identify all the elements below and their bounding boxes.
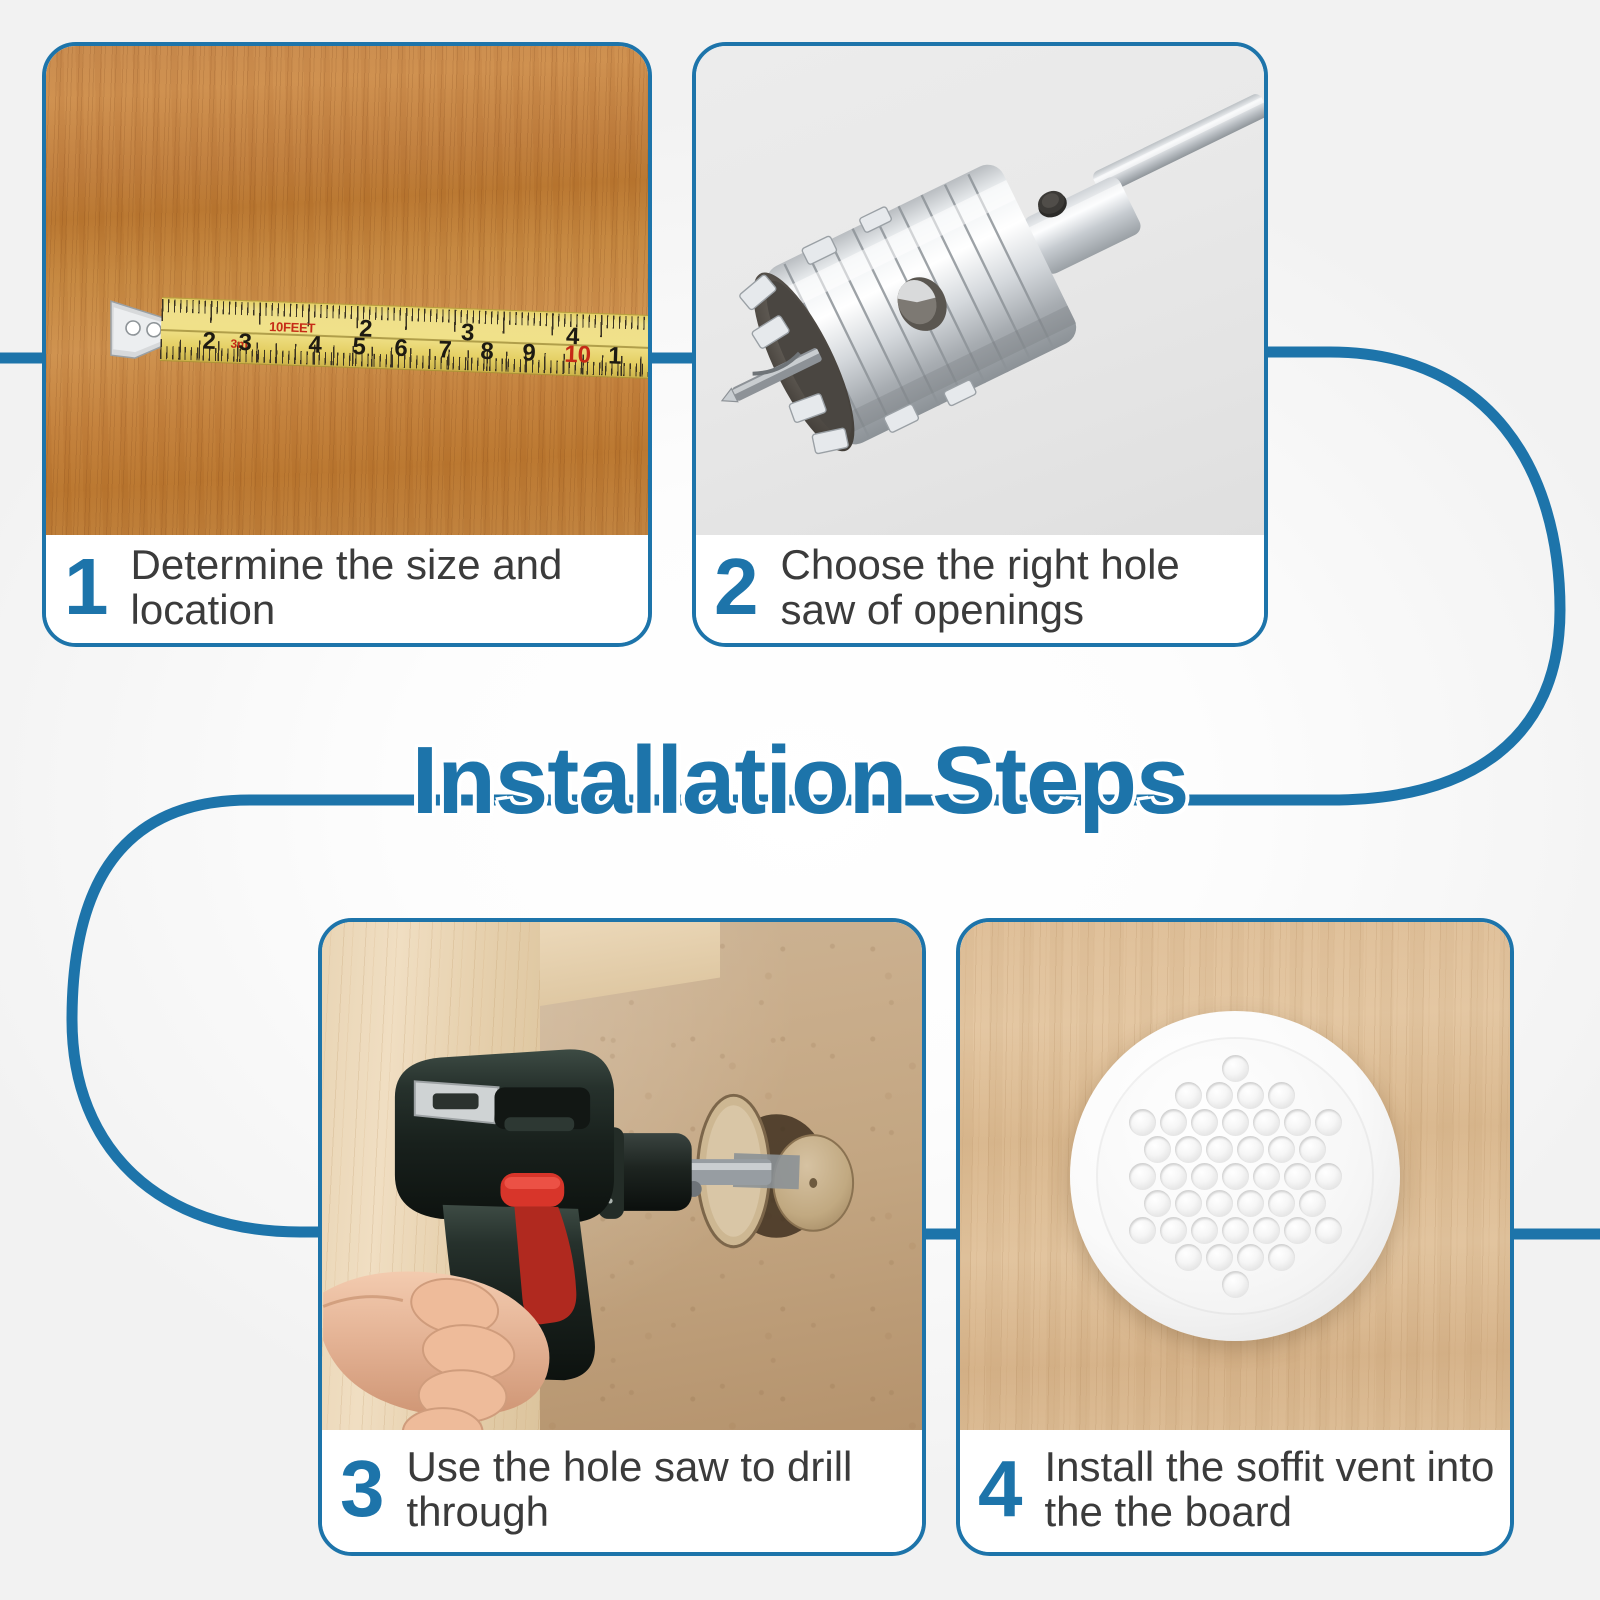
vent-hole	[1191, 1109, 1218, 1136]
tape-cm-2: 2	[202, 330, 216, 354]
vent-hole	[1268, 1190, 1295, 1217]
tape-cm-8: 8	[480, 340, 494, 364]
installation-steps-infographic: Installation Steps 10FE	[0, 0, 1600, 1600]
vent-hole	[1268, 1244, 1295, 1271]
vent-hole	[1237, 1190, 1264, 1217]
vent-hole	[1284, 1217, 1311, 1244]
vent-hole	[1253, 1163, 1280, 1190]
tape-blade: 10FEET 3m 2 3 4 5 2 3 4 5 6 7 8 9 10 1	[160, 297, 648, 380]
vent-hole	[1129, 1109, 1156, 1136]
vent-hole	[1206, 1082, 1233, 1109]
vent-hole	[1222, 1163, 1249, 1190]
vent-hole	[1129, 1217, 1156, 1244]
step-caption-2: Choose the right hole saw of openings	[781, 542, 1251, 633]
step-card-1-caption: 1 Determine the size and location	[46, 535, 648, 643]
tape-cm-9: 9	[522, 341, 536, 365]
step-card-2: 2 Choose the right hole saw of openings	[692, 42, 1268, 647]
vent-hole	[1144, 1190, 1171, 1217]
vent-hole	[1175, 1136, 1202, 1163]
vent-hole	[1222, 1109, 1249, 1136]
step-number-4: 4	[978, 1452, 1023, 1526]
vent-hole	[1160, 1109, 1187, 1136]
connector-left-loop	[72, 800, 330, 1232]
hole-saw-core-bit-illustration	[696, 46, 1264, 535]
vent-hole	[1237, 1244, 1264, 1271]
cordless-drill-illustration	[322, 922, 922, 1430]
vent-hole	[1206, 1136, 1233, 1163]
vent-hole	[1268, 1136, 1295, 1163]
vent-hole	[1191, 1163, 1218, 1190]
step-card-4: 4 Install the soffit vent into the the b…	[956, 918, 1514, 1556]
vent-hole	[1284, 1163, 1311, 1190]
vent-hole	[1253, 1109, 1280, 1136]
vent-hole	[1160, 1163, 1187, 1190]
tape-cm-5: 5	[352, 335, 366, 359]
step-card-3-caption: 3 Use the hole saw to drill through	[322, 1430, 922, 1552]
vent-hole	[1175, 1244, 1202, 1271]
drilling-with-hole-saw-photo	[322, 922, 922, 1430]
vent-hole	[1175, 1082, 1202, 1109]
tape-inch-3: 3	[461, 321, 475, 345]
vent-hole	[1284, 1109, 1311, 1136]
vent-hole	[1299, 1136, 1326, 1163]
step-card-2-caption: 2 Choose the right hole saw of openings	[696, 535, 1264, 643]
vent-hole	[1315, 1217, 1342, 1244]
tape-cm-7: 7	[438, 338, 452, 362]
vent-hole	[1222, 1217, 1249, 1244]
vent-hole	[1175, 1190, 1202, 1217]
vent-hole	[1253, 1217, 1280, 1244]
vent-hole	[1129, 1163, 1156, 1190]
vent-hole-grid	[1110, 1051, 1360, 1301]
hole-saw-barrel	[696, 153, 1085, 495]
hole-saw-core-bit-photo	[696, 46, 1264, 535]
step-caption-4: Install the soffit vent into the the boa…	[1045, 1444, 1497, 1535]
connector-right-loop	[1266, 352, 1560, 800]
vent-hole	[1160, 1217, 1187, 1244]
step-caption-3: Use the hole saw to drill through	[407, 1444, 909, 1535]
vent-hole	[1144, 1136, 1171, 1163]
step-caption-1: Determine the size and location	[131, 542, 635, 633]
step-number-2: 2	[714, 550, 759, 624]
soffit-vent	[1070, 1011, 1400, 1341]
tape-cm-10: 10	[564, 343, 592, 368]
step-card-1: 10FEET 3m 2 3 4 5 2 3 4 5 6 7 8 9 10 1	[42, 42, 652, 647]
vent-hole	[1191, 1217, 1218, 1244]
step-number-1: 1	[64, 550, 109, 624]
vent-hole	[1206, 1244, 1233, 1271]
tape-cm-3: 3	[238, 331, 252, 355]
vent-hole	[1222, 1271, 1249, 1298]
tape-measure-on-wood-board-photo: 10FEET 3m 2 3 4 5 2 3 4 5 6 7 8 9 10 1	[46, 46, 648, 535]
vent-hole	[1222, 1055, 1249, 1082]
vent-hole	[1299, 1190, 1326, 1217]
vent-hole	[1237, 1082, 1264, 1109]
tape-cm-4: 4	[308, 333, 322, 357]
vent-hole	[1237, 1136, 1264, 1163]
tape-cm-11: 1	[608, 344, 622, 368]
drill-body	[395, 1049, 614, 1222]
step-number-3: 3	[340, 1452, 385, 1526]
vent-hole	[1315, 1163, 1342, 1190]
wood-background	[46, 46, 648, 535]
tape-cm-6: 6	[394, 337, 408, 361]
vent-hole	[1315, 1109, 1342, 1136]
step-card-3: 3 Use the hole saw to drill through	[318, 918, 926, 1556]
vent-hole	[1206, 1190, 1233, 1217]
step-card-4-caption: 4 Install the soffit vent into the the b…	[960, 1430, 1510, 1552]
vent-hole	[1268, 1082, 1295, 1109]
installed-soffit-vent-photo	[960, 922, 1510, 1430]
